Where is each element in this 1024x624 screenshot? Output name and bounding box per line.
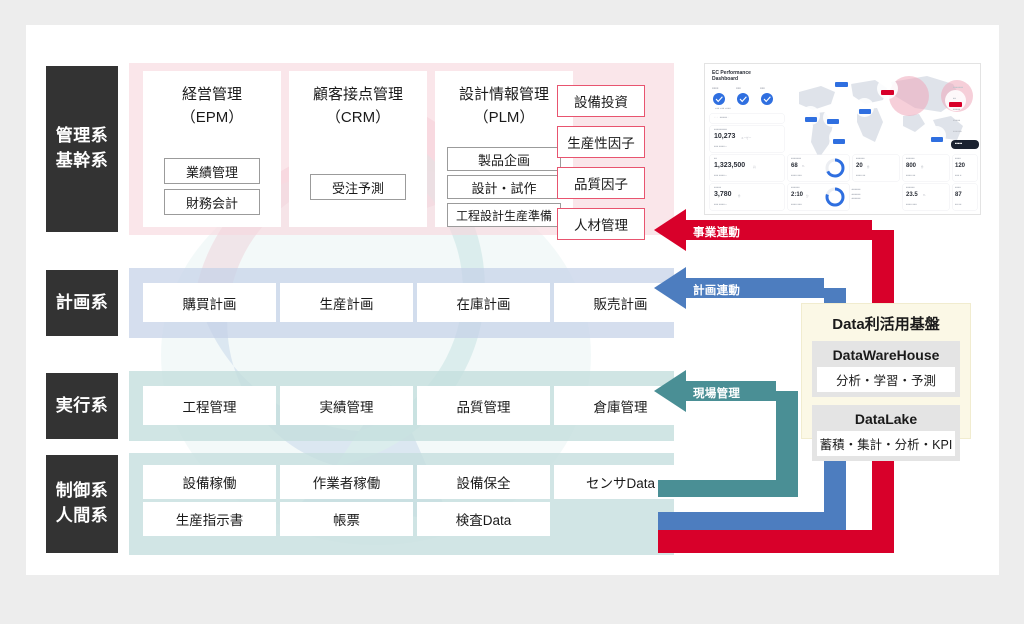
kpi-label-9: ■■■■■■: [906, 186, 915, 189]
map-marker-6: [833, 139, 845, 144]
donut-chart-0: [824, 157, 846, 179]
kpi-value-5: 800: [906, 163, 916, 169]
map-marker-2: [949, 102, 962, 107]
map-bubble-5: [823, 108, 842, 127]
kpi-value-0: 10,273: [714, 133, 735, 140]
kpi-delta-8: ■■■■ ■■■: [791, 203, 802, 206]
kpi-unit-3: %: [802, 165, 804, 168]
toggle-label-1: ■■■: [736, 87, 741, 90]
dwh-body: 分析・学習・予測: [817, 367, 955, 392]
kpi-delta-3: ■■■■ ■■■: [791, 174, 802, 177]
donut-chart-1: [824, 186, 846, 208]
side-menu-3[interactable]: ■■■■■: [953, 119, 960, 122]
side-menu-0[interactable]: ■■■■■■■: [953, 86, 963, 89]
map-bubble-3: [855, 98, 874, 117]
toggle-label-0: ■■■■: [712, 87, 718, 90]
kpi-unit-1: 円: [753, 165, 756, 169]
side-cta-label: ■■■■■: [955, 142, 962, 145]
map-marker-4: [805, 117, 817, 122]
kpi-label-1: ■■: [714, 157, 717, 160]
arrow-label-field: 現場管理: [693, 385, 740, 401]
map-marker-7: [931, 137, 943, 142]
data-platform-panel[interactable]: Data利活用基盤 DataWareHouse 分析・学習・予測 DataLak…: [801, 303, 971, 439]
toggle-icons-group[interactable]: [710, 92, 785, 106]
kpi-unit-0: ユーザー: [741, 136, 751, 140]
kpi-label-2: ■■■■■: [714, 186, 721, 189]
legend-row: ●■■ ●■■ ●■■■: [715, 107, 731, 110]
kpi-value-10: 87: [955, 192, 962, 198]
map-bubble-1: [877, 78, 898, 99]
side-menu-1[interactable]: ■■: [953, 97, 956, 100]
dwh-head: DataWareHouse: [833, 345, 940, 367]
kpi-delta-4: ■■■■ ■■: [856, 174, 865, 177]
kpi-label-5: ■■■■■■: [906, 157, 915, 160]
map-marker-0: [835, 82, 848, 87]
lake-head: DataLake: [855, 409, 917, 431]
arrow-label-planning: 計画連動: [693, 282, 740, 298]
filter-bar-text: ◦ ◦ ◦ ■■■■■ ◦: [714, 116, 729, 119]
kpi-unit-8: 分: [806, 194, 809, 198]
kpi-value-6: 120: [955, 163, 965, 169]
kpi-delta-0: ■■■ ■■■■ ▴: [714, 145, 727, 148]
kpi-value-2: 3,780: [714, 191, 732, 198]
dashboard-inner: EC Performance Dashboard ■■■■ ■■■ ■■■ ●■…: [705, 64, 980, 214]
kpi-unit-9: %: [923, 194, 925, 197]
ec-performance-dashboard-thumbnail[interactable]: EC Performance Dashboard ■■■■ ■■■ ■■■ ●■…: [704, 63, 981, 215]
data-platform-block-dwh[interactable]: DataWareHouse 分析・学習・予測: [812, 341, 960, 397]
side-menu-4[interactable]: ■■■■■■: [953, 130, 962, 133]
dashboard-title-line2: Dashboard: [712, 76, 738, 82]
data-platform-block-lake[interactable]: DataLake 蓄積・集計・分析・KPI: [812, 405, 960, 461]
kpi-delta-2: ■■■ ■■■■ ▴: [714, 203, 727, 206]
map-marker-1: [881, 90, 894, 95]
kpi-delta-6: ■■■ ■: [955, 174, 961, 177]
kpi-value-9: 23.5: [906, 192, 918, 198]
kpi-value-1: 1,323,500: [714, 162, 745, 169]
diagram-canvas: 管理系 基幹系 経営管理 （EPM） 業績管理 財務会計 顧客接点管理 （CRM…: [26, 25, 999, 575]
kpi-label-3: ■■■■■■■: [791, 157, 801, 160]
kpi-label-10: ■■■■: [955, 186, 961, 189]
figure-root: 管理系 基幹系 経営管理 （EPM） 業績管理 財務会計 顧客接点管理 （CRM…: [0, 0, 1024, 624]
kpi-delta-10: ■■ ■■: [955, 203, 961, 206]
kpi-value-4: 20: [856, 163, 863, 169]
map-bubble-7: [927, 126, 946, 145]
kpi-label-4: ■■■■■■: [856, 157, 865, 160]
kpi-label-6: ■■■■: [955, 157, 961, 160]
kpi-unit-2: 件: [738, 194, 741, 198]
map-bubble-4: [801, 106, 820, 125]
kpi-value-3: 68: [791, 163, 798, 169]
map-marker-5: [827, 119, 839, 124]
map-bubble-6: [829, 128, 848, 147]
kpi-delta-1: ■■■ ■■■■ ▴: [714, 174, 727, 177]
side-menu-2[interactable]: ■■■■■: [953, 108, 960, 111]
kpi-delta-9: ■■■■ ■■■: [906, 203, 917, 206]
kpi-value-8: 2:10: [791, 192, 803, 198]
data-platform-title: Data利活用基盤: [832, 313, 940, 334]
kpi-label-0: ■■■■■■■■■: [714, 128, 727, 131]
map-bubble-0: [831, 70, 852, 91]
donut-legend-1: ▪■■■■■■▪■■■■■■▪■■■■■■: [851, 188, 861, 202]
kpi-unit-4: 件: [867, 165, 870, 169]
kpi-label-7: ■■■■■■: [791, 186, 800, 189]
map-marker-3: [859, 109, 871, 114]
kpi-unit-5: 件: [921, 165, 924, 169]
arrow-label-business: 事業連動: [693, 224, 740, 240]
kpi-delta-5: ■■■■ ■■: [906, 174, 915, 177]
lake-body: 蓄積・集計・分析・KPI: [817, 431, 955, 456]
toggle-label-2: ■■■: [760, 87, 765, 90]
